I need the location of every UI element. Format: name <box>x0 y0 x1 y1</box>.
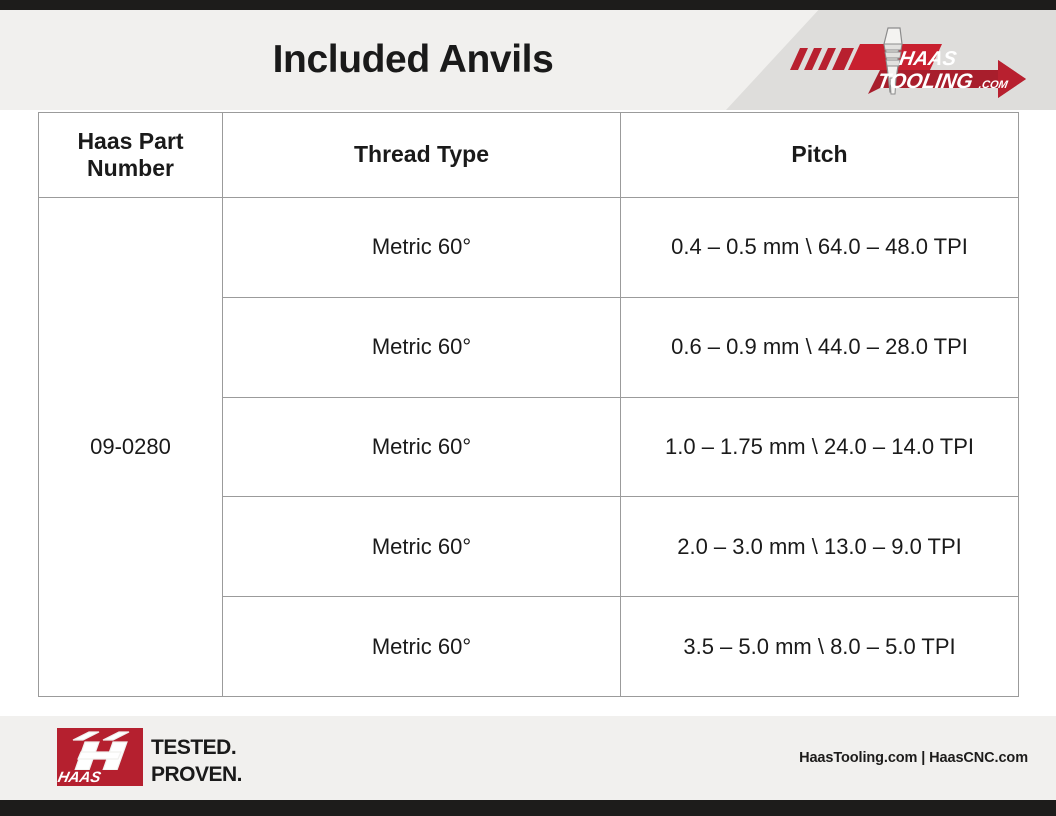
cell-pitch: 0.6 – 0.9 mm \ 44.0 – 28.0 TPI <box>621 297 1019 397</box>
cell-pitch: 3.5 – 5.0 mm \ 8.0 – 5.0 TPI <box>621 597 1019 697</box>
logo-stripes <box>790 48 854 70</box>
haas-tooling-logo: HAAS TOOLING .COM <box>784 22 1034 102</box>
cell-pitch: 1.0 – 1.75 mm \ 24.0 – 14.0 TPI <box>621 397 1019 497</box>
bottom-accent-bar <box>0 800 1056 816</box>
top-accent-bar <box>0 0 1056 10</box>
table-row: 09-0280 Metric 60° 0.4 – 0.5 mm \ 64.0 –… <box>39 198 1019 298</box>
cell-pitch: 2.0 – 3.0 mm \ 13.0 – 9.0 TPI <box>621 497 1019 597</box>
haas-tested-proven-logo: HAAS TESTED. PROVEN. <box>55 726 315 788</box>
column-header-part-number: Haas Part Number <box>39 113 223 198</box>
column-header-pitch: Pitch <box>621 113 1019 198</box>
footer-logo-line1: TESTED. <box>151 736 236 759</box>
svg-text:HAAS: HAAS <box>56 769 102 786</box>
cell-thread-type: Metric 60° <box>223 198 621 298</box>
included-anvils-table-wrapper: Haas Part Number Thread Type Pitch 09-02… <box>38 112 1018 697</box>
cell-thread-type: Metric 60° <box>223 597 621 697</box>
included-anvils-table: Haas Part Number Thread Type Pitch 09-02… <box>38 112 1019 697</box>
logo-tooling-text: TOOLING <box>875 70 974 93</box>
footer-logo-line2: PROVEN. <box>151 763 242 786</box>
table-header-row: Haas Part Number Thread Type Pitch <box>39 113 1019 198</box>
logo-com-text: .COM <box>978 79 1010 91</box>
logo-haas-text: HAAS <box>898 48 959 70</box>
cell-part-number: 09-0280 <box>39 198 223 697</box>
slide-footer: HAAS TESTED. PROVEN. HaasTooling.com | H… <box>0 716 1056 800</box>
column-header-thread-type: Thread Type <box>223 113 621 198</box>
cell-pitch: 0.4 – 0.5 mm \ 64.0 – 48.0 TPI <box>621 198 1019 298</box>
slide-header: Included Anvils H <box>0 10 1056 110</box>
cell-thread-type: Metric 60° <box>223 497 621 597</box>
cell-thread-type: Metric 60° <box>223 297 621 397</box>
haas-wordmark: HAAS <box>56 769 143 786</box>
footer-links[interactable]: HaasTooling.com | HaasCNC.com <box>799 716 1028 800</box>
cell-thread-type: Metric 60° <box>223 397 621 497</box>
